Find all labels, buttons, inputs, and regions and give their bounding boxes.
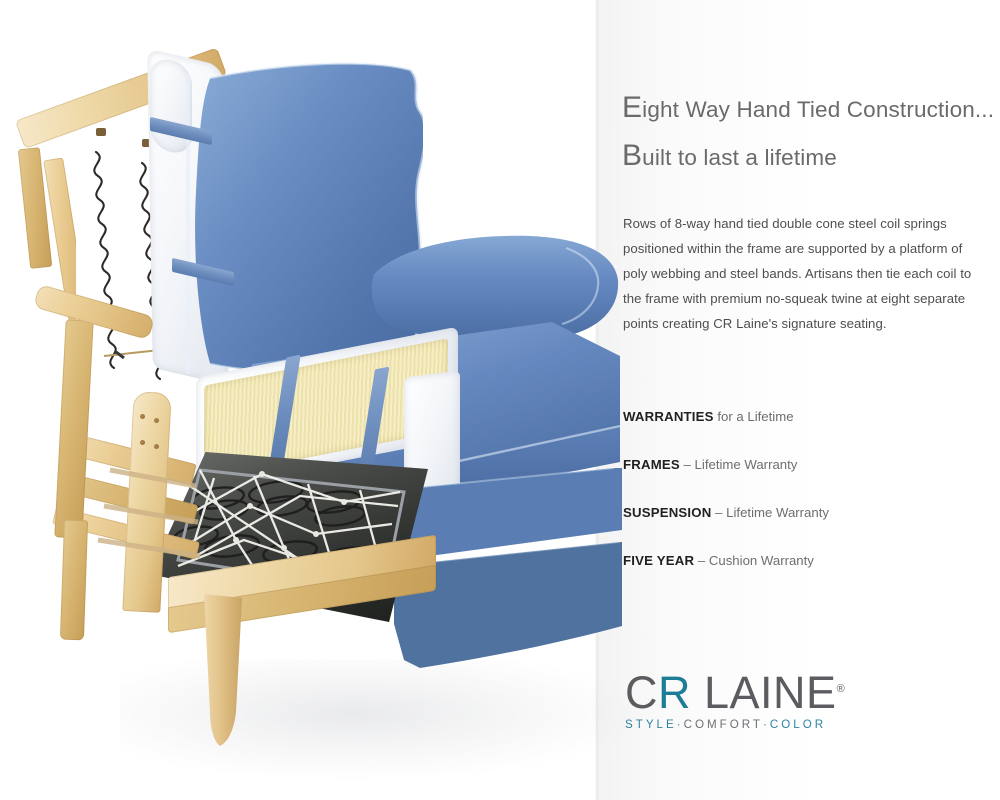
warranty-heading: WARRANTIES for a Lifetime [623,409,973,425]
cr-laine-logo: CR LAINE® STYLE·COMFORT·COLOR [625,666,855,731]
headline-line-2: Built to last a lifetime [622,147,837,170]
tagline-separator-2: · [763,718,770,731]
content-column: Eight Way Hand Tied Construction... Buil… [622,0,982,800]
headline-line-1-text: ight Way Hand Tied Construction... [642,97,994,122]
logo-letter-r: R [658,667,691,718]
logo-name: LAINE [704,667,837,718]
headline-line-1-capital: E [622,91,642,124]
poster-root: Eight Way Hand Tied Construction... Buil… [0,0,1000,800]
warranty-heading-strong: WARRANTIES [623,409,714,424]
warranty-row-frames: FRAMES – Lifetime Warranty [623,457,973,473]
warranty-value-suspension: – Lifetime Warranty [711,505,829,520]
body-paragraph: Rows of 8-way hand tied double cone stee… [623,211,975,336]
tagline-style: STYLE [625,718,677,731]
warranty-heading-rest: for a Lifetime [714,409,794,424]
chair-cutaway-photo [0,0,620,800]
warranties-block: WARRANTIES for a Lifetime FRAMES – Lifet… [623,409,973,569]
tagline-color: COLOR [770,718,826,731]
logo-laine-word [691,667,704,718]
headline-line-2-text: uilt to last a lifetime [642,145,837,170]
tagline-separator-1: · [677,718,684,731]
logo-letter-c: C [625,667,658,718]
poly-webbing-layer [0,0,620,800]
logo-wordmark: CR LAINE® [625,666,855,716]
registered-trademark-icon: ® [837,683,845,695]
headline-line-1: Eight Way Hand Tied Construction... [622,99,994,122]
warranty-row-five-year: FIVE YEAR – Cushion Warranty [623,553,973,569]
warranty-term-frames: FRAMES [623,457,680,472]
headline-line-2-capital: B [622,139,642,172]
warranty-term-five-year: FIVE YEAR [623,553,694,568]
warranty-term-suspension: SUSPENSION [623,505,711,520]
logo-tagline: STYLE·COMFORT·COLOR [625,718,855,731]
warranty-row-suspension: SUSPENSION – Lifetime Warranty [623,505,973,521]
warranty-value-frames: – Lifetime Warranty [680,457,798,472]
tagline-comfort: COMFORT [684,718,763,731]
warranty-value-five-year: – Cushion Warranty [694,553,814,568]
